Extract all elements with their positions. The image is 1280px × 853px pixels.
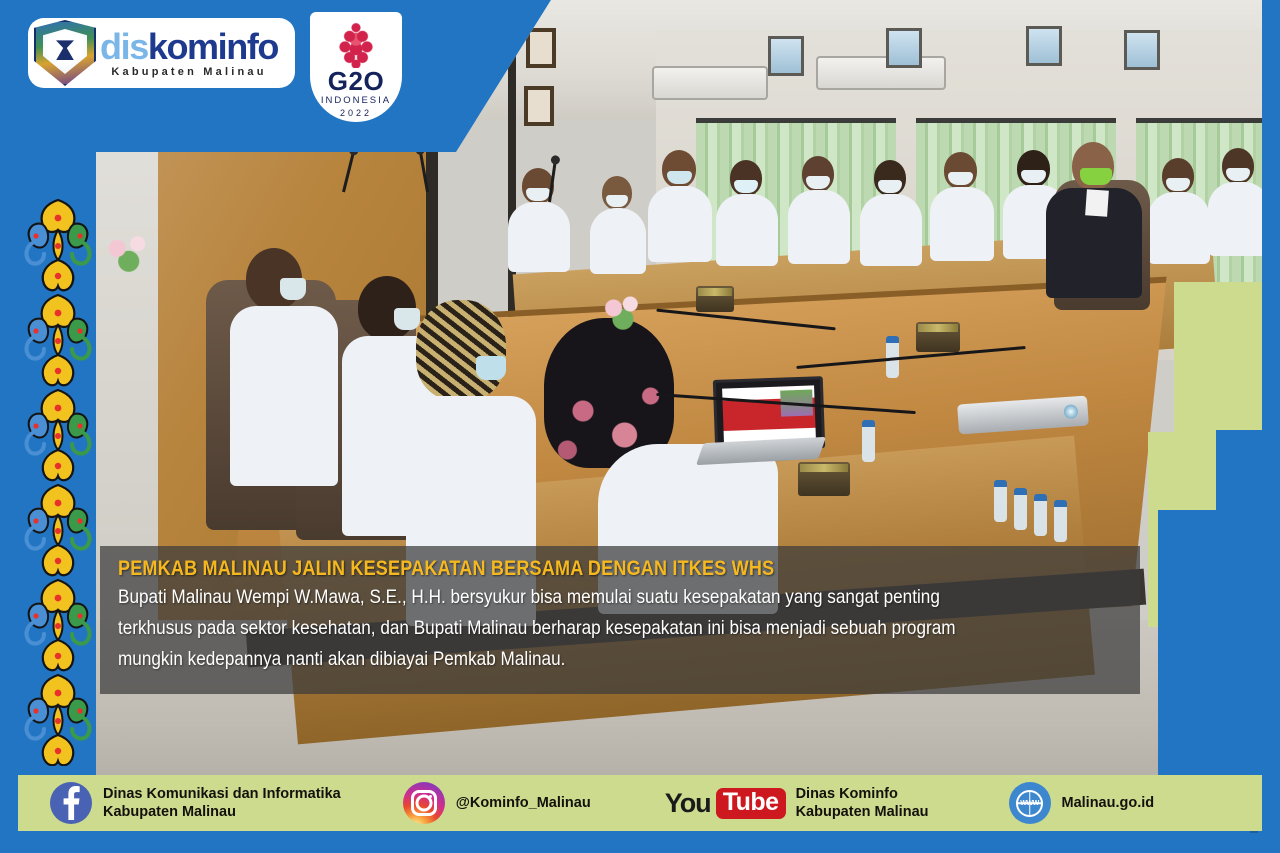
diskominfo-logo[interactable]: diskominfo Kabupaten Malinau xyxy=(28,18,295,88)
clerestory-window xyxy=(1026,26,1062,66)
instagram-icon[interactable] xyxy=(403,782,445,824)
facebook-line-1: Dinas Komunikasi dan Informatika xyxy=(103,785,341,803)
footer-facebook[interactable]: Dinas Komunikasi dan Informatika Kabupat… xyxy=(50,782,341,824)
website-label: Malinau.go.id xyxy=(1062,794,1155,812)
water-bottle xyxy=(1014,488,1027,530)
wordmark-dis: dis xyxy=(100,26,148,67)
wordmark-kominfo: kominfo xyxy=(148,26,278,67)
facebook-icon[interactable] xyxy=(50,782,92,824)
footer-instagram[interactable]: @Kominfo_Malinau xyxy=(403,782,591,824)
water-bottle xyxy=(1034,494,1047,536)
flower-arrangement xyxy=(98,230,162,276)
flower-arrangement xyxy=(598,292,650,332)
dayak-motif-border xyxy=(22,196,94,766)
wall-portrait xyxy=(524,86,554,126)
youtube-you: You xyxy=(665,788,711,819)
clerestory-window xyxy=(1124,30,1160,70)
dayak-motif-svg xyxy=(22,196,94,766)
banner-date: 17 Juli 2022 xyxy=(423,120,455,126)
footer-youtube[interactable]: You Tube Dinas Kominfo Kabupaten Malinau xyxy=(665,785,929,821)
woven-box xyxy=(916,322,960,352)
clerestory-window xyxy=(886,28,922,68)
youtube-line-2: Kabupaten Malinau xyxy=(796,803,929,821)
www-glyph-text: WWW xyxy=(1020,800,1039,807)
air-conditioner xyxy=(652,66,768,100)
wall-portrait xyxy=(526,28,556,68)
youtube-tube: Tube xyxy=(716,788,786,819)
globe-www-icon[interactable]: WWW xyxy=(1009,782,1051,824)
frame-right xyxy=(1262,0,1280,853)
caption-body-line-3: mungkin kedepannya nanti akan dibiayai P… xyxy=(118,644,1118,675)
woven-box xyxy=(696,286,734,312)
clerestory-window xyxy=(768,36,804,76)
caption-overlay: PEMKAB MALINAU JALIN KESEPAKATAN BERSAMA… xyxy=(100,546,1140,694)
water-bottle xyxy=(862,420,875,462)
facebook-line-2: Kabupaten Malinau xyxy=(103,803,341,821)
g20-title: G2O xyxy=(328,68,384,94)
batik-gunungan-motif-icon xyxy=(333,20,379,68)
youtube-icon[interactable]: You Tube xyxy=(665,788,786,819)
air-conditioner xyxy=(816,56,946,90)
caption-body-line-1: Bupati Malinau Wempi W.Mawa, S.E., H.H. … xyxy=(118,582,1118,613)
youtube-line-1: Dinas Kominfo xyxy=(796,785,929,803)
logo-subtitle: Kabupaten Malinau xyxy=(100,67,278,78)
g20-year: 2022 xyxy=(340,107,372,119)
water-bottle xyxy=(994,480,1007,522)
footer-website[interactable]: WWW Malinau.go.id xyxy=(1009,782,1155,824)
diskominfo-wordmark: diskominfo Kabupaten Malinau xyxy=(100,29,278,78)
caption-body-line-2: terkhusus pada sektor kesehatan, dan Bup… xyxy=(118,613,1118,644)
caption-title: PEMKAB MALINAU JALIN KESEPAKATAN BERSAMA… xyxy=(118,556,983,582)
youtube-label: Dinas Kominfo Kabupaten Malinau xyxy=(796,785,929,821)
facebook-label: Dinas Komunikasi dan Informatika Kabupat… xyxy=(103,785,341,821)
frame-inner-line xyxy=(14,146,20,794)
poster-canvas: PENANDATANGANAN MOU KERJASAMA PENINGKATA… xyxy=(0,0,1280,853)
woven-box xyxy=(798,462,850,496)
clerical-collar xyxy=(1085,189,1109,216)
frame-bottom xyxy=(0,831,1280,853)
footer-bar: Dinas Komunikasi dan Informatika Kabupat… xyxy=(18,775,1262,831)
g20-logo[interactable]: G2O INDONESIA 2022 xyxy=(310,12,402,122)
instagram-handle: @Kominfo_Malinau xyxy=(456,794,591,812)
water-bottle xyxy=(1054,500,1067,542)
malinau-regency-crest-icon xyxy=(34,20,96,86)
g20-country: INDONESIA xyxy=(321,94,391,107)
